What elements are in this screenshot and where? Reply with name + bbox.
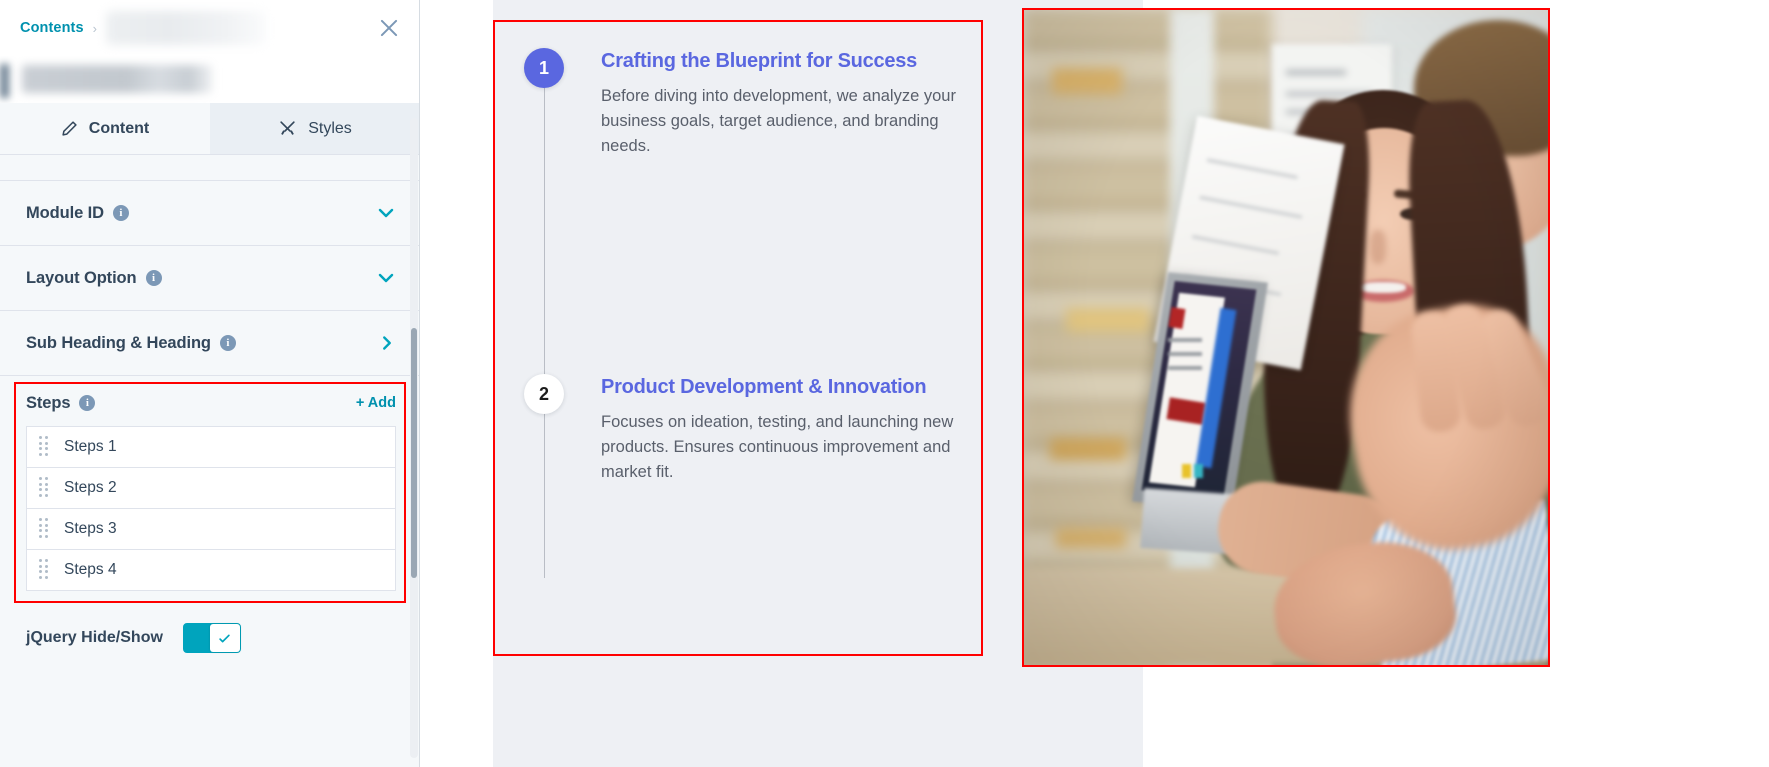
module-title-blurred [0,56,420,103]
timeline-steps: 1 Crafting the Blueprint for Success Bef… [493,20,983,656]
chevron-down-icon[interactable] [374,201,398,225]
section-layout-option-label: Layout Option [26,269,137,288]
drag-handle-icon[interactable] [39,477,51,499]
sidebar-scroll-area: Module ID i Layout Option i Sub Heading … [0,181,420,767]
pencil-icon [61,120,78,137]
business-team-meeting-photo [1022,8,1550,667]
steps-label: Steps [26,394,70,413]
steps-panel: Steps i + Add Steps 1 Steps 2 [0,376,420,609]
tab-styles[interactable]: Styles [210,103,420,154]
drag-handle-icon[interactable] [39,518,51,540]
module-accent-bar [0,64,9,98]
jquery-hide-show-label: jQuery Hide/Show [26,629,163,647]
list-item[interactable]: Steps 3 [27,509,395,550]
list-item-label: Steps 3 [64,520,117,538]
list-item-label: Steps 1 [64,438,117,456]
section-module-id[interactable]: Module ID i [0,181,420,246]
canvas-right-gutter [1552,0,1769,767]
chevron-down-icon[interactable] [374,266,398,290]
steps-panel-header: Steps i + Add [26,390,396,416]
top-add-link-clipped[interactable]: + Add [0,155,420,181]
timeline-step[interactable]: 3 Market Research & Analysis Identifies … [493,346,983,507]
timeline-step[interactable]: 4 Business Model & Strategy Defines how … [493,507,983,656]
steps-list: Steps 1 Steps 2 Steps 3 Steps 4 [26,426,396,591]
preview-canvas: 1 Crafting the Blueprint for Success Bef… [420,0,1769,767]
info-icon[interactable]: i [146,270,162,286]
sidebar-tabs: Content Styles [0,103,420,155]
breadcrumb-current-blurred [106,11,266,45]
sidebar-scrollbar-thumb[interactable] [411,328,417,578]
list-item-label: Steps 4 [64,561,117,579]
list-item-label: Steps 2 [64,479,117,497]
app-root: Contents › Content [0,0,1769,767]
breadcrumb-contents-link[interactable]: Contents [20,20,84,36]
jquery-hide-show-row: jQuery Hide/Show [0,609,420,653]
module-image[interactable] [1022,8,1550,667]
toggle-knob [210,624,240,652]
info-icon[interactable]: i [220,335,236,351]
editor-sidebar: Contents › Content [0,0,420,767]
module-title-text-blurred [22,65,212,93]
top-add-label: Add [36,155,65,156]
list-item[interactable]: Steps 2 [27,468,395,509]
step-description: Before diving into development, we analy… [601,84,976,159]
info-icon[interactable]: i [79,395,95,411]
sidebar-scrollbar[interactable] [410,118,418,758]
check-icon [217,631,232,646]
steps-add-button[interactable]: + Add [356,395,396,411]
step-title[interactable]: Crafting the Blueprint for Success [601,50,976,72]
step-number-badge: 1 [524,48,564,88]
close-icon[interactable] [376,15,402,41]
list-item[interactable]: Steps 4 [27,550,395,591]
section-sub-heading-heading[interactable]: Sub Heading & Heading i [0,311,420,376]
section-module-id-label: Module ID [26,204,104,223]
info-icon[interactable]: i [113,205,129,221]
tab-content[interactable]: Content [0,103,210,154]
jquery-hide-show-toggle[interactable] [183,623,241,653]
tab-content-label: Content [89,120,149,138]
breadcrumb: Contents › [20,11,368,45]
section-sub-heading-heading-label: Sub Heading & Heading [26,334,211,353]
tab-styles-label: Styles [308,120,352,138]
breadcrumb-separator-icon: › [93,22,97,35]
list-item[interactable]: Steps 1 [27,427,395,468]
brush-icon [278,119,297,138]
drag-handle-icon[interactable] [39,559,51,581]
timeline-step[interactable]: 1 Crafting the Blueprint for Success Bef… [493,20,983,184]
timeline-step[interactable]: 2 Product Development & Innovation Focus… [493,184,983,346]
step-number-badge: 2 [524,374,564,414]
section-layout-option[interactable]: Layout Option i [0,246,420,311]
top-add-plus: + [24,155,33,156]
chevron-right-icon[interactable] [376,332,398,354]
sidebar-header: Contents › [0,0,420,56]
drag-handle-icon[interactable] [39,436,51,458]
